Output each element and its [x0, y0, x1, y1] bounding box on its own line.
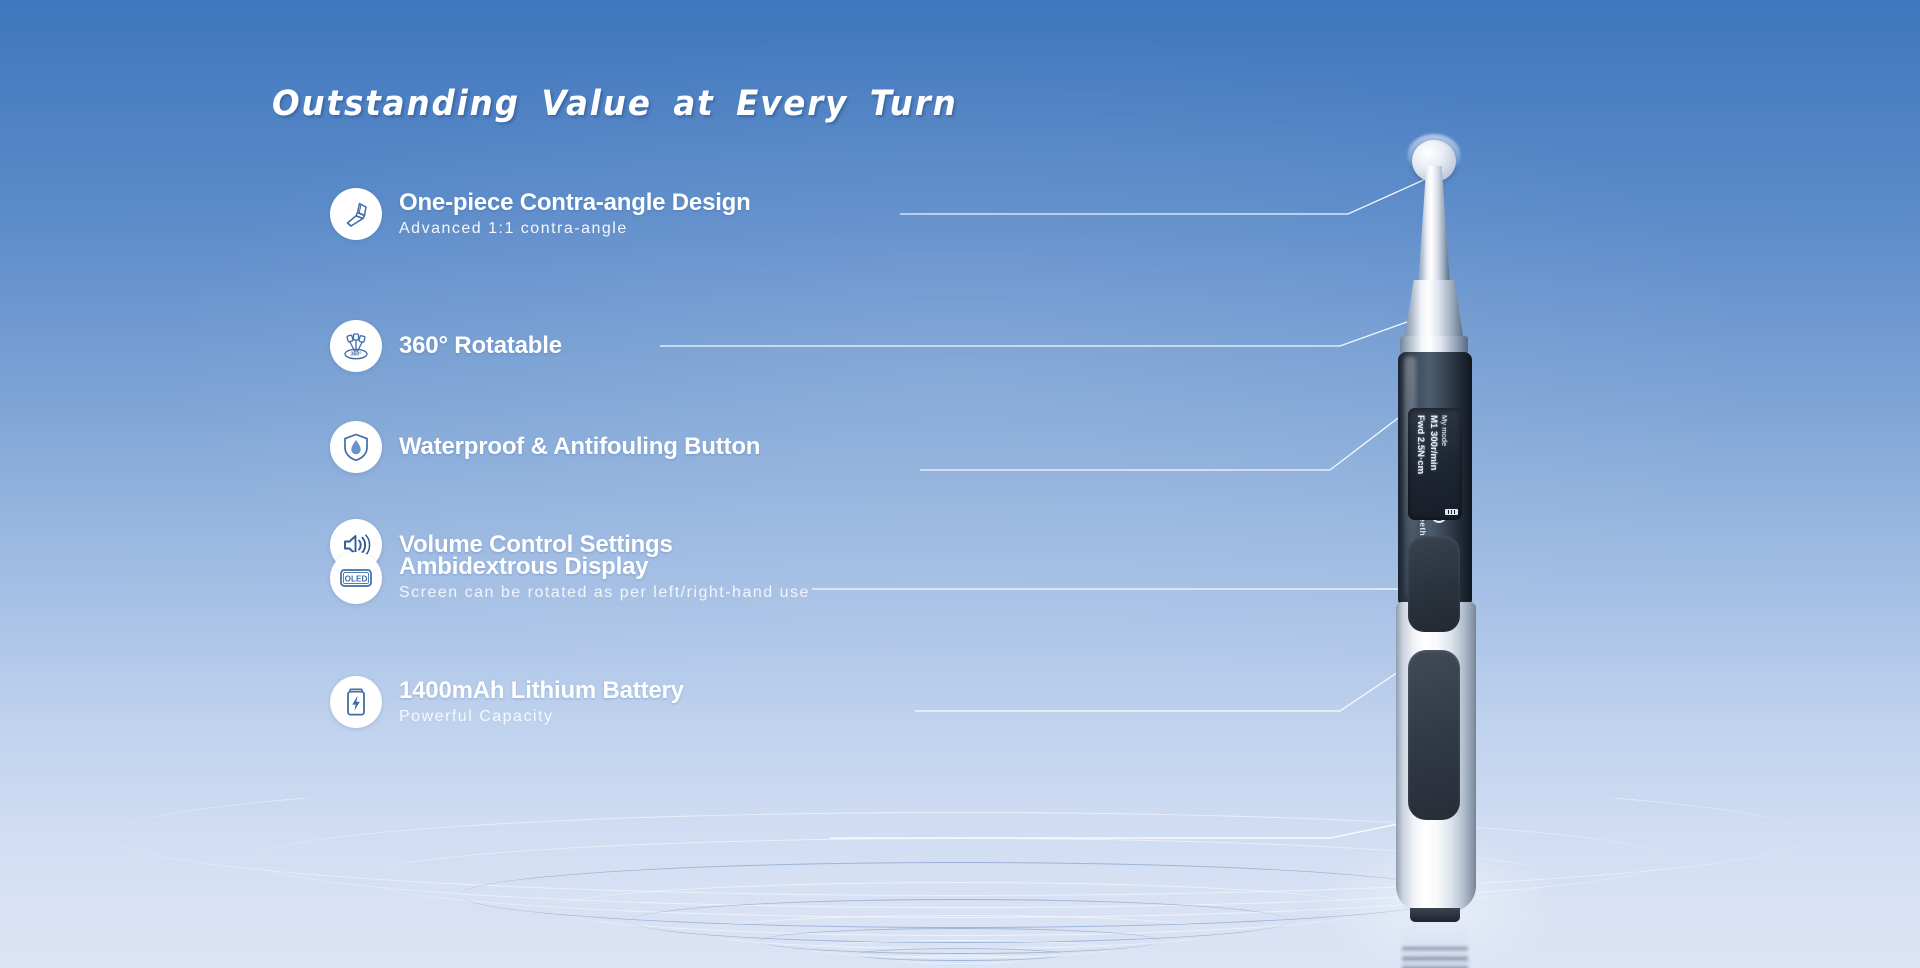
- battery-full-icon: [1445, 509, 1458, 515]
- feature-title: 360° Rotatable: [399, 333, 562, 360]
- screen-line-speed: M1 300r/min: [1427, 415, 1439, 470]
- feature-item-ambidextrous-display[interactable]: OLED Ambidextrous Display Screen can be …: [330, 552, 810, 604]
- battery-bolt-icon: [330, 676, 382, 728]
- feature-subtitle: Advanced 1:1 contra-angle: [399, 220, 751, 238]
- shield-water-drop-icon: [330, 421, 382, 473]
- device-button-panel-lower[interactable]: [1408, 650, 1460, 820]
- feature-item-360-rotatable[interactable]: 360° 360° Rotatable: [330, 320, 562, 372]
- device-neck: [1418, 166, 1450, 286]
- feature-title: One-piece Contra-angle Design: [399, 190, 751, 217]
- rotation-360-icon: 360°: [330, 320, 382, 372]
- device-base: [1410, 908, 1460, 922]
- device-oled-screen: My mode M1 300r/min Fwd 2.5N·cm: [1408, 408, 1462, 520]
- device-button-panel-upper[interactable]: [1408, 536, 1460, 632]
- device-water-reflection: [1402, 922, 1468, 968]
- screen-line-torque: Fwd 2.5N·cm: [1414, 415, 1426, 474]
- feature-text-block: Waterproof & Antifouling Button: [399, 434, 760, 461]
- feature-title: Ambidextrous Display: [399, 554, 810, 581]
- svg-text:360°: 360°: [351, 352, 362, 358]
- product-banner-stage: Outstanding Value at Every Turn: [0, 0, 1920, 968]
- feature-list: One-piece Contra-angle Design Advanced 1…: [0, 0, 1920, 968]
- feature-text-block: Ambidextrous Display Screen can be rotat…: [399, 554, 810, 602]
- device-collar: [1404, 280, 1464, 342]
- feature-item-waterproof-antifouling[interactable]: Waterproof & Antifouling Button: [330, 421, 760, 473]
- contra-angle-head-icon: [330, 188, 382, 240]
- product-device-image: Eighteeth My mode M1 300r/min Fwd 2.5N·c…: [1378, 140, 1498, 920]
- oled-screen-icon: OLED: [330, 552, 382, 604]
- screen-line-mode: My mode: [1440, 415, 1449, 446]
- feature-subtitle: Screen can be rotated as per left/right-…: [399, 584, 810, 602]
- feature-subtitle: Powerful Capacity: [399, 708, 684, 726]
- feature-title: Waterproof & Antifouling Button: [399, 434, 760, 461]
- feature-item-lithium-battery[interactable]: 1400mAh Lithium Battery Powerful Capacit…: [330, 676, 684, 728]
- feature-text-block: 1400mAh Lithium Battery Powerful Capacit…: [399, 678, 684, 726]
- feature-title: 1400mAh Lithium Battery: [399, 678, 684, 705]
- feature-text-block: One-piece Contra-angle Design Advanced 1…: [399, 190, 751, 238]
- oled-icon-label: OLED: [345, 574, 368, 583]
- feature-item-one-piece-contra-angle[interactable]: One-piece Contra-angle Design Advanced 1…: [330, 188, 751, 240]
- feature-text-block: 360° Rotatable: [399, 333, 562, 360]
